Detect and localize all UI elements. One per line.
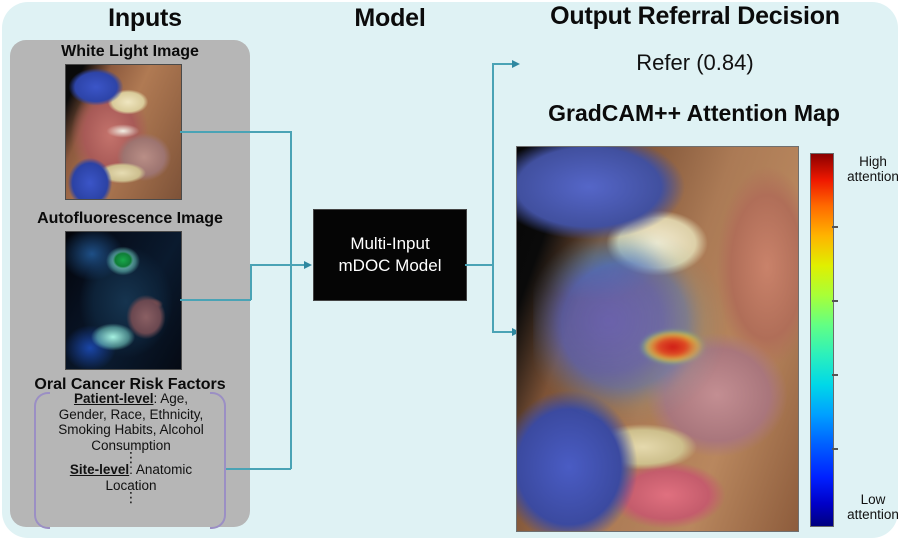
risk-factors-group: Patient-level: Age, Gender, Race, Ethnic…: [34, 392, 226, 525]
connector-afi-horizontal: [180, 299, 251, 301]
connector-afi-vertical: [250, 265, 252, 300]
column-title-output: Output Referral Decision: [490, 2, 900, 31]
site-level-title: Site-level: [70, 462, 129, 477]
arrow-into-model-icon: [304, 261, 312, 269]
attention-map-image: [516, 146, 799, 532]
colorbar-low-line1: Low: [861, 492, 886, 507]
model-box: Multi-Input mDOC Model: [313, 209, 467, 301]
connector-risk-vertical: [290, 265, 292, 469]
colorbar-tick: [832, 448, 838, 450]
patient-level-title: Patient-level: [74, 391, 154, 406]
colorbar-low-label: Low attention: [838, 492, 900, 522]
colorbar-high-line1: High: [859, 154, 887, 169]
connector-wli-vertical: [290, 131, 292, 265]
attention-map-title: GradCAM++ Attention Map: [488, 100, 900, 127]
figure-root: Inputs Model Output Referral Decision Wh…: [0, 0, 900, 540]
white-light-image: [65, 64, 182, 200]
autofluorescence-image-label: Autofluorescence Image: [6, 210, 254, 228]
connector-wli-horizontal: [180, 131, 291, 133]
column-title-inputs: Inputs: [0, 4, 290, 33]
colorbar-tick: [832, 226, 838, 228]
attention-map-heat-overlay: [533, 225, 733, 425]
attention-colorbar: [810, 153, 834, 527]
column-title-model: Model: [290, 4, 490, 33]
colorbar-tick: [832, 374, 838, 376]
connector-risk-horizontal: [226, 468, 291, 470]
colorbar-high-label: High attention: [838, 154, 900, 184]
model-box-line2: mDOC Model: [339, 256, 442, 275]
model-box-label: Multi-Input mDOC Model: [339, 233, 442, 277]
white-light-image-content: [66, 65, 181, 199]
brace-right-icon: [210, 392, 226, 529]
model-box-line1: Multi-Input: [350, 234, 429, 253]
connector-attention-branch: [492, 331, 514, 333]
risk-factors-text: Patient-level: Age, Gender, Race, Ethnic…: [56, 391, 206, 502]
risk-ellipsis-2: ⋮: [56, 493, 206, 502]
brace-left-icon: [34, 392, 50, 529]
autofluorescence-image-content: [66, 232, 181, 369]
colorbar-tick: [832, 300, 838, 302]
referral-decision-value: Refer (0.84): [490, 50, 900, 76]
risk-ellipsis-1: ⋮: [56, 453, 206, 462]
connector-model-input: [250, 264, 310, 266]
white-light-image-label: White Light Image: [10, 43, 250, 61]
colorbar-low-line2: attention: [847, 507, 899, 522]
autofluorescence-image: [65, 231, 182, 370]
connector-model-output: [465, 264, 493, 266]
colorbar-high-line2: attention: [847, 169, 899, 184]
